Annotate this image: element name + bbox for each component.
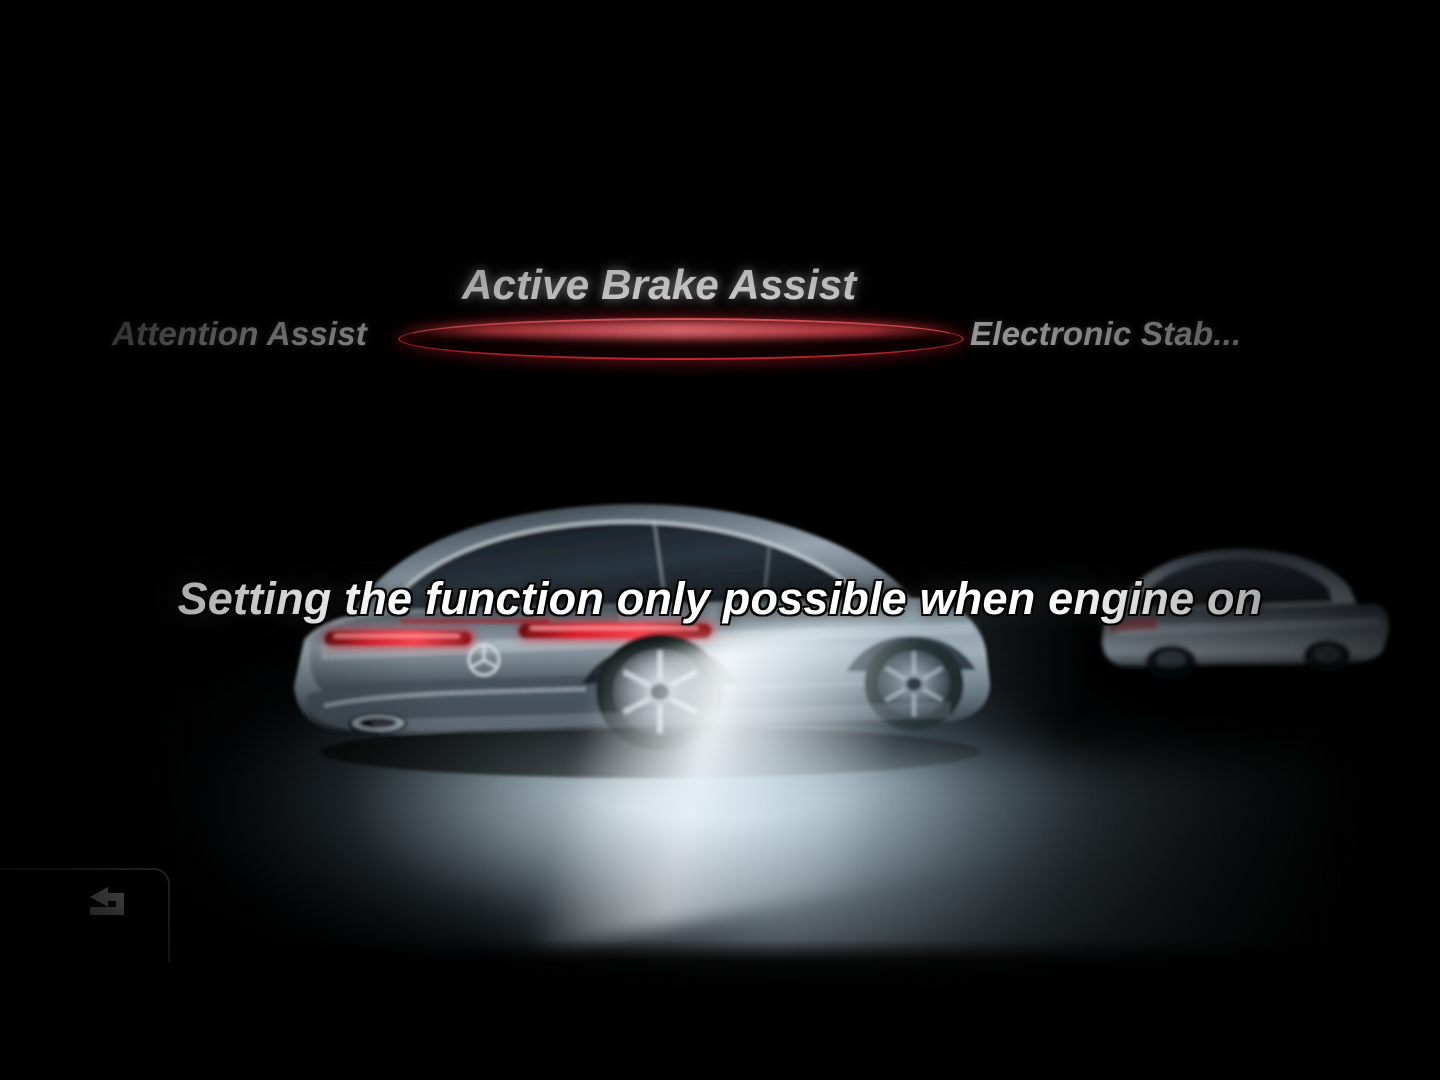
carousel-item-active-brake-assist[interactable]: Active Brake Assist xyxy=(462,261,856,309)
ground-plane-edge xyxy=(0,940,1440,1080)
instrument-cluster-screen: Attention Assist Active Brake Assist Ele… xyxy=(0,0,1440,1080)
illustration-scene xyxy=(0,0,1440,1080)
back-arrow-icon[interactable] xyxy=(78,884,134,924)
carousel-item-electronic-stability[interactable]: Electronic Stab... xyxy=(970,315,1241,353)
status-message: Setting the function only possible when … xyxy=(0,573,1440,625)
selection-ellipse-glow xyxy=(400,322,958,338)
headlight-beam-wash xyxy=(520,760,1340,970)
carousel-item-attention-assist[interactable]: Attention Assist xyxy=(112,315,367,353)
